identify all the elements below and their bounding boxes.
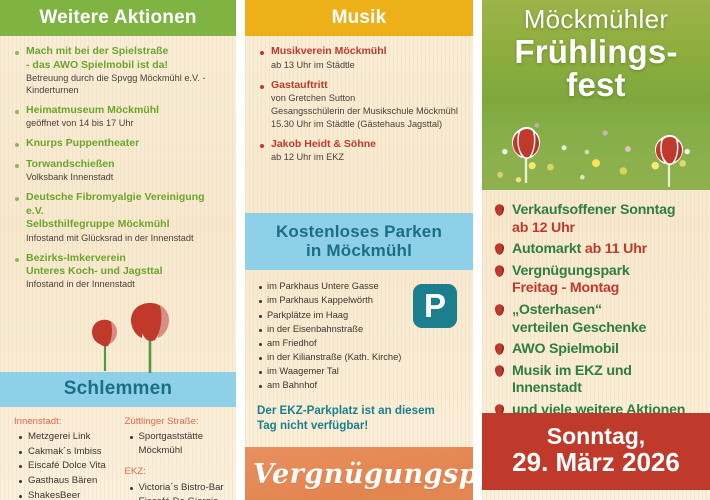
list-item: Parkplätze im Haag [257,309,407,323]
parking-sign-icon: P [413,284,457,328]
tulip-icon-small [86,316,124,372]
item-subtitle: Infostand mit Glücksrad in der Innenstad… [26,233,224,245]
item-title-2: - das AWO Spielmobil ist da! [26,59,224,72]
item-title: Torwandschießen [26,158,224,171]
highlight-green-part: Automarkt [512,241,581,257]
date-line1: Sonntag, [488,424,704,449]
list-item: Vergnügungspark Freitag - Montag [494,263,702,298]
tulip-icon-large [124,300,176,374]
item-title-2: Selbsthilfegruppe Möckmühl [26,218,224,231]
list-item: Gasthaus Bären [14,474,116,488]
item-label: Gasthaus Bären [28,474,116,488]
item-label: im Parkhaus Untere Gasse [267,280,379,294]
list-item: Victoria´s Bistro-Bar [125,481,227,495]
bullet-icon [259,357,262,360]
header-kostenloses-parken: Kostenloses Parken in Möckmühl [245,213,473,270]
item-label: in der Eisenbahnstraße [267,323,363,337]
list-item: Mach mit bei der Spielstraße - das AWO S… [13,45,224,97]
schlemmen-right-column: Züttlinger Straße: Sportgaststätte Möckm… [125,416,227,500]
highlight-line1: AWO Spielmobil [512,341,702,359]
category-label: Züttlinger Straße: [125,416,227,428]
list-item: Deutsche Fibromyalgie Vereinigung e.V. S… [13,191,224,244]
highlight-text: Vergnügungspark Freitag - Montag [512,263,702,298]
list-item: in der Eisenbahnstraße [257,323,407,337]
list-item: Bezirks-Imkerverein Unteres Koch- und Ja… [13,252,224,292]
list-item: im Waagemer Tal [257,365,407,379]
parking-notice: Der EKZ-Parkplatz ist an diesem Tag nich… [245,393,473,434]
bullet-icon [260,51,264,55]
highlights-list: Verkaufsoffener Sonntag ab 12 Uhr Automa… [482,190,710,420]
highlight-line1: Musik im EKZ und Innenstadt [512,363,702,398]
notice-line1: Der EKZ-Parkplatz ist an diesem [257,403,463,419]
list-item: AWO Spielmobil [494,341,702,359]
list-item: Metzgerei Link [14,430,116,444]
list-item: Jakob Heidt & Söhne ab 12 Uhr im EKZ [258,138,461,164]
highlight-line2: ab 12 Uhr [512,220,702,238]
item-label: am Friedhof [267,337,317,351]
item-label: ShakesBeer [28,489,116,500]
list-item: Verkaufsoffener Sonntag ab 12 Uhr [494,202,702,237]
panel-cover: Möckmühler Frühlings- fest [482,0,710,500]
list-item: Musik im EKZ und Innenstadt [494,363,702,398]
item-title: Knurps Puppentheater [26,137,224,150]
highlight-line1: Vergnügungspark [512,263,702,281]
item-title: Deutsche Fibromyalgie Vereinigung e.V. [26,191,224,218]
panel-musik-parken: Musik Musikverein Möckmühl ab 13 Uhr im … [245,0,473,500]
item-title-2: Unteres Koch- und Jagsttal [26,265,224,278]
tulip-bullet-icon [494,265,505,278]
item-title: Musikverein Möckmühl [271,45,461,58]
header-musik: Musik [245,0,473,36]
highlight-line2: Freitag - Montag [512,280,702,298]
highlight-text: AWO Spielmobil [512,341,702,359]
bullet-icon [259,343,262,346]
bullet-icon [130,436,133,439]
list-item: ShakesBeer [14,489,116,500]
date-line2: 29. März 2026 [488,448,704,477]
bullet-icon [259,300,262,303]
item-title: Gastauftritt [271,79,461,92]
list-item: Gastauftritt von Gretchen Sutton Gesangs… [258,79,461,131]
header-schlemmen: Schlemmen [0,372,236,406]
spacer [245,171,473,213]
item-subtitle: ab 12 Uhr im EKZ [271,152,461,164]
bullet-icon [15,143,19,147]
item-subtitle: Volksbank Innenstadt [26,172,224,184]
bullet-icon [15,51,19,55]
bullet-icon [19,480,22,483]
vergnuegungspark-sub1: auf dem Festplatz [253,496,465,500]
bullet-icon [15,258,19,262]
item-label: Sportgaststätte Möckmühl [139,430,227,457]
item-label: im Waagemer Tal [267,365,339,379]
highlight-red-part: ab 11 Uhr [585,241,647,257]
list-item: Sportgaststätte Möckmühl [125,430,227,457]
item-label: am Bahnhof [267,379,317,393]
highlight-line1: „Osterhasen“ [512,302,702,320]
item-subtitle-1: von Gretchen Sutton [271,93,461,105]
item-title: Heimatmuseum Möckmühl [26,104,224,117]
item-subtitle: ab 13 Uhr im Städtle [271,60,461,72]
item-subtitle: Betreuung durch die Spvgg Möckmühl e.V. … [26,73,224,97]
brochure-sheet: Weitere Aktionen Mach mit bei der Spiels… [0,0,710,500]
item-title: Jakob Heidt & Söhne [271,138,461,151]
highlight-text: „Osterhasen“ verteilen Geschenke [512,302,702,337]
list-item: im Parkhaus Untere Gasse [257,280,407,294]
parken-content: im Parkhaus Untere Gasse im Parkhaus Kap… [245,270,473,393]
cover-title-line1: Möckmühler [482,6,710,34]
item-title: Mach mit bei der Spielstraße [26,45,224,58]
item-label: Victoria´s Bistro-Bar [139,481,227,495]
parken-header-line2: in Möckmühl [249,241,469,260]
cover-title-line2: Frühlings- [482,35,710,69]
item-label: Cakmak´s Imbiss [28,445,116,459]
list-item: im Parkhaus Kappelwörth [257,294,407,308]
tulip-bullet-icon [494,204,505,217]
highlight-text: Automarkt ab 11 Uhr [512,241,702,259]
item-label: Eiscafé Dolce Vita [28,459,116,473]
item-subtitle: Infostand in der Innenstadt [26,279,224,291]
bullet-icon [259,371,262,374]
musik-list: Musikverein Möckmühl ab 13 Uhr im Städtl… [245,36,473,164]
category-label: Innenstadt: [14,416,116,428]
schlemmen-left-column: Innenstadt: Metzgerei Link Cakmak´s Imbi… [14,416,116,500]
parken-header-line1: Kostenloses Parken [249,222,469,241]
bullet-icon [19,495,22,498]
bullet-icon [19,451,22,454]
vergnuegungspark-title: Vergnügungspark [253,461,465,489]
bullet-icon [259,385,262,388]
bullet-icon [15,164,19,168]
list-item: am Bahnhof [257,379,407,393]
list-item: Torwandschießen Volksbank Innenstadt [13,158,224,184]
bullet-icon [19,465,22,468]
tulip-icon-cover-right [650,134,688,188]
header-weitere-aktionen: Weitere Aktionen [0,0,236,36]
panel-gap [473,0,482,500]
highlight-text: Verkaufsoffener Sonntag ab 12 Uhr [512,202,702,237]
list-item: Musikverein Möckmühl ab 13 Uhr im Städtl… [258,45,461,71]
list-item: am Friedhof [257,337,407,351]
tulip-bullet-icon [494,243,505,256]
bullet-icon [15,110,19,114]
item-label: Parkplätze im Haag [267,309,348,323]
item-subtitle-2: Gesangsschülerin der Musikschule Möckmüh… [271,106,461,118]
item-subtitle: geöffnet von 14 bis 17 Uhr [26,118,224,130]
highlight-line1: Verkaufsoffener Sonntag [512,202,702,220]
item-label: Eiscafé Da Giorgio [139,495,227,500]
list-item: in der Kilianstraße (Kath. Kirche) [257,351,407,365]
bullet-icon [19,436,22,439]
category-label: EKZ: [125,466,227,478]
tulip-bullet-icon [494,304,505,317]
spacer [245,434,473,447]
bullet-icon [260,85,264,89]
bullet-icon [259,315,262,318]
list-item: Cakmak´s Imbiss [14,445,116,459]
tulip-icon-cover-left [506,126,546,184]
bullet-icon [130,487,133,490]
tulip-decoration [0,298,236,372]
bullet-icon [259,286,262,289]
schlemmen-columns: Innenstadt: Metzgerei Link Cakmak´s Imbi… [0,407,236,500]
tulip-bullet-icon [494,343,505,356]
item-label: in der Kilianstraße (Kath. Kirche) [267,351,401,365]
panel-weitere-aktionen: Weitere Aktionen Mach mit bei der Spiels… [0,0,236,500]
weitere-aktionen-list: Mach mit bei der Spielstraße - das AWO S… [0,36,236,291]
tulip-bullet-icon [494,365,505,378]
list-item: Heimatmuseum Möckmühl geöffnet von 14 bi… [13,104,224,130]
item-title: Bezirks-Imkerverein [26,252,224,265]
item-label: im Parkhaus Kappelwörth [267,294,373,308]
highlight-line2: verteilen Geschenke [512,320,702,338]
item-subtitle-3: 15.30 Uhr im Städtle (Gästehaus Jagsttal… [271,119,461,131]
notice-line2: Tag nicht verfügbar! [257,418,463,434]
list-item: Eiscafé Dolce Vita [14,459,116,473]
bullet-icon [259,329,262,332]
cover-title: Möckmühler Frühlings- fest [482,6,710,102]
cover-title-line3: fest [482,68,710,102]
list-item: „Osterhasen“ verteilen Geschenke [494,302,702,337]
cover-photo: Möckmühler Frühlings- fest [482,0,710,190]
list-item: Eiscafé Da Giorgio [125,495,227,500]
parking-locations-list: im Parkhaus Untere Gasse im Parkhaus Kap… [257,280,407,393]
list-item: Automarkt ab 11 Uhr [494,241,702,259]
bullet-icon [15,197,19,201]
highlight-text: Musik im EKZ und Innenstadt [512,363,702,398]
date-banner: Sonntag, 29. März 2026 [482,413,710,490]
vergnuegungspark-block: Vergnügungspark auf dem Festplatz (Freit… [245,447,473,500]
list-item: Knurps Puppentheater [13,137,224,150]
bullet-icon [260,144,264,148]
panel-gap [236,0,245,500]
item-label: Metzgerei Link [28,430,116,444]
